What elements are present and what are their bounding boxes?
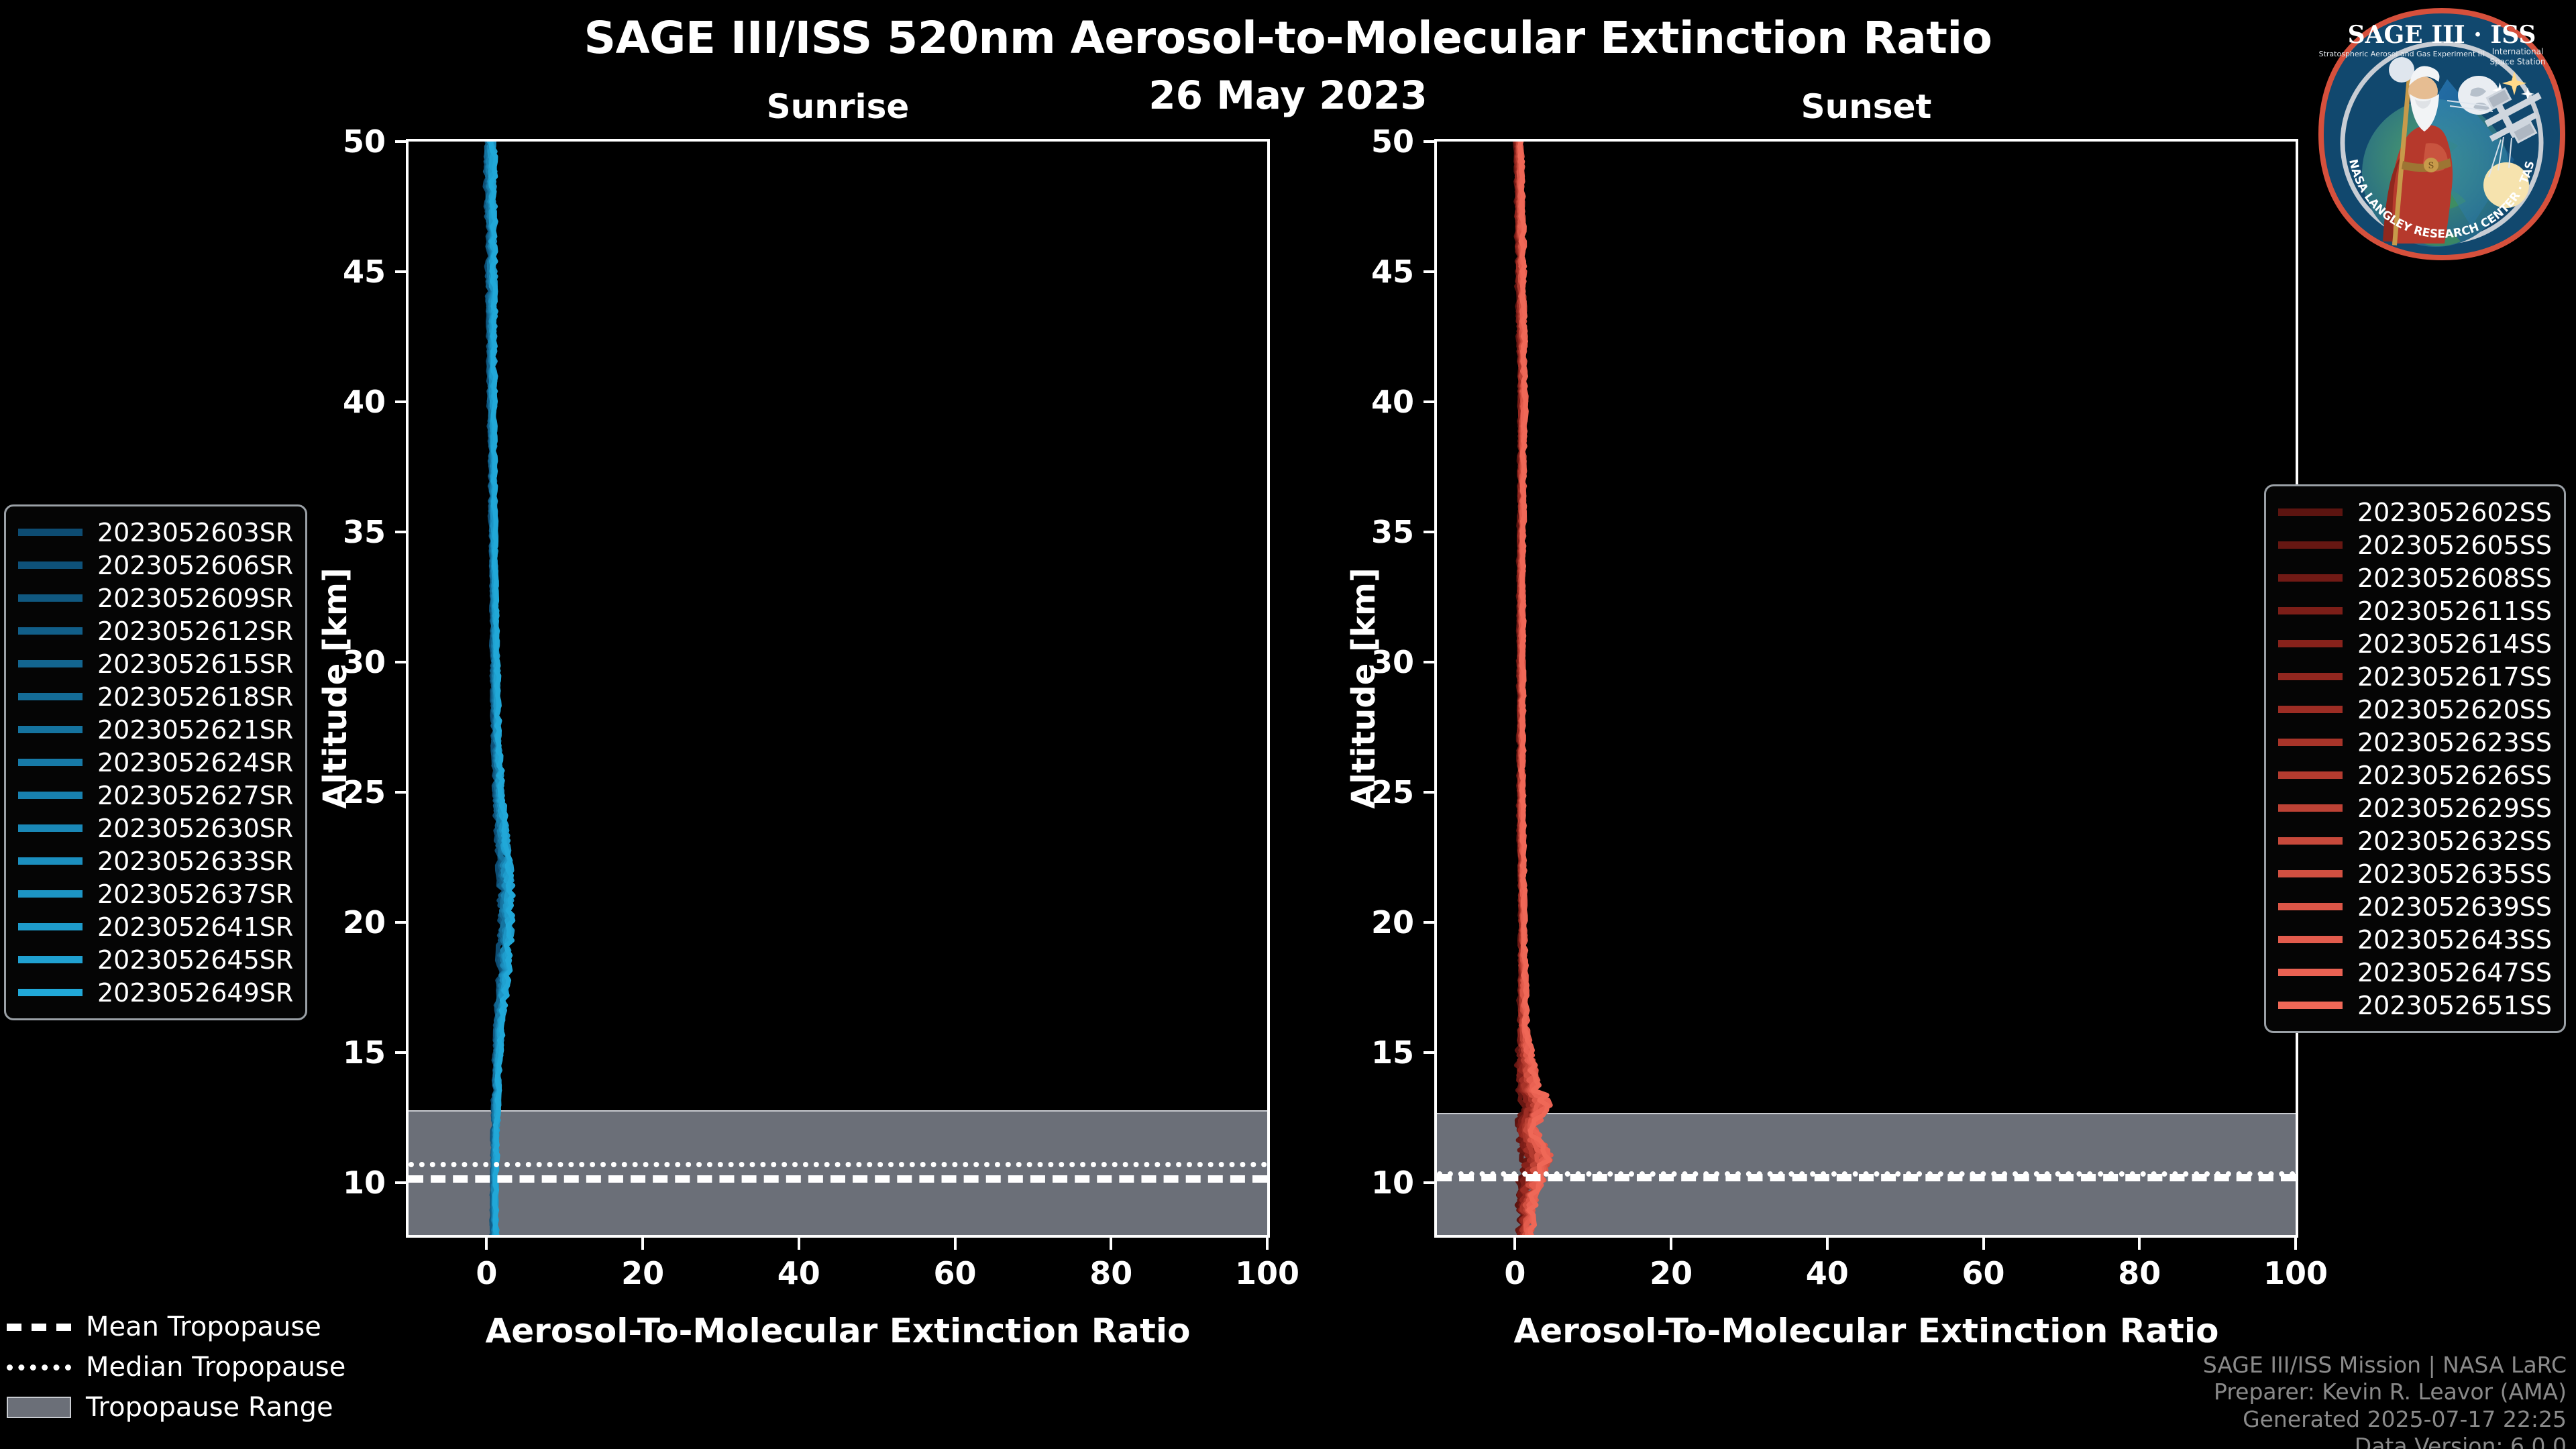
x-tick-mark — [1110, 1238, 1112, 1250]
legend-line-swatch — [2278, 706, 2343, 713]
legend-item-label: 2023052615SR — [97, 651, 293, 677]
legend-sunset-item[interactable]: 2023052639SS — [2278, 890, 2552, 923]
legend-line-swatch — [18, 792, 83, 799]
legend-item-label: Median Tropopause — [86, 1354, 345, 1381]
legend-sunset-item[interactable]: 2023052605SS — [2278, 529, 2552, 561]
legend-item-label: 2023052633SR — [97, 849, 293, 874]
legend-item-label: 2023052608SS — [2357, 566, 2552, 591]
legend-line-swatch — [18, 594, 83, 602]
legend-sunrise-item[interactable]: 2023052612SR — [18, 614, 293, 647]
legend-sunrise-item[interactable]: 2023052606SR — [18, 549, 293, 582]
legend-item-label: 2023052647SS — [2357, 960, 2552, 985]
y-tick-mark — [1424, 140, 1434, 143]
legend-item-label: 2023052606SR — [97, 553, 293, 578]
legend-line-swatch — [18, 890, 83, 898]
median-tropopause-line — [409, 1162, 1267, 1167]
legend-item-label: 2023052651SS — [2357, 993, 2552, 1018]
legend-sunset-item[interactable]: 2023052635SS — [2278, 857, 2552, 890]
legend-line-swatch — [2278, 508, 2343, 516]
legend-sunset-item[interactable]: 2023052651SS — [2278, 989, 2552, 1022]
x-tick-label: 20 — [621, 1255, 664, 1291]
legend-line-swatch — [2278, 739, 2343, 746]
legend-item-label: 2023052645SR — [97, 947, 293, 973]
legend-line-swatch — [2278, 936, 2343, 943]
plot-area-sunset[interactable] — [1434, 139, 2298, 1238]
y-axis-label-sunrise: Altitude [km] — [317, 568, 354, 809]
legend-sunrise-item[interactable]: 2023052627SR — [18, 779, 293, 812]
legend-line-swatch — [2278, 640, 2343, 647]
sage-iii-iss-logo: S SAGE III · ISS Stratospheric Aerosol a… — [2313, 5, 2571, 263]
x-tick-mark — [485, 1238, 488, 1250]
legend-item-label: 2023052632SS — [2357, 828, 2552, 854]
x-tick-label: 60 — [934, 1255, 977, 1291]
svg-text:S: S — [2428, 161, 2434, 171]
x-tick-mark — [2294, 1238, 2297, 1250]
legend-item-label: Tropopause Range — [86, 1394, 333, 1421]
legend-line-swatch — [2278, 804, 2343, 812]
legend-line-swatch — [2278, 574, 2343, 582]
mean-tropopause-line — [1437, 1174, 2296, 1181]
legend-line-swatch — [18, 824, 83, 832]
legend-item-label: 2023052637SR — [97, 881, 293, 907]
legend-sunrise-item[interactable]: 2023052637SR — [18, 877, 293, 910]
legend-item-label: 2023052609SR — [97, 586, 293, 611]
panel-title-sunset: Sunset — [1434, 87, 2298, 126]
legend-line-swatch — [18, 956, 83, 963]
y-tick-mark — [395, 1181, 406, 1184]
legend-line-swatch — [18, 529, 83, 536]
legend-line-swatch — [18, 561, 83, 569]
legend-item-label: 2023052629SS — [2357, 796, 2552, 821]
x-tick-label: 100 — [1235, 1255, 1299, 1291]
legend-item-label: Mean Tropopause — [86, 1313, 321, 1340]
y-tick-mark — [1424, 921, 1434, 924]
y-tick-mark — [1424, 661, 1434, 663]
y-tick-mark — [1424, 1181, 1434, 1184]
legend-sunset-item[interactable]: 2023052614SS — [2278, 627, 2552, 660]
logo-title: SAGE III · ISS — [2348, 21, 2536, 49]
x-tick-label: 40 — [777, 1255, 820, 1291]
y-tick-label: 40 — [1340, 384, 1414, 420]
legend-item-label: 2023052620SS — [2357, 697, 2552, 722]
y-axis-label-sunset: Altitude [km] — [1345, 568, 1383, 809]
y-tick-mark — [395, 661, 406, 663]
credits-line-version: Data Version: 6.0.0 — [2203, 1433, 2567, 1449]
x-tick-mark — [1826, 1238, 1829, 1250]
legend-sunset-item[interactable]: 2023052608SS — [2278, 561, 2552, 594]
logo-svg: S SAGE III · ISS Stratospheric Aerosol a… — [2313, 5, 2571, 263]
legend-sunrise[interactable]: 2023052603SR2023052606SR2023052609SR2023… — [4, 504, 307, 1020]
legend-line-swatch — [18, 759, 83, 766]
legend-tropopause-item[interactable]: Mean Tropopause — [7, 1307, 345, 1347]
y-tick-label: 30 — [312, 644, 386, 680]
y-tick-label: 35 — [312, 514, 386, 550]
legend-sunrise-item[interactable]: 2023052621SR — [18, 713, 293, 746]
y-tick-label: 20 — [1340, 904, 1414, 941]
legend-item-label: 2023052617SS — [2357, 664, 2552, 690]
legend-sunset-item[interactable]: 2023052617SS — [2278, 660, 2552, 693]
y-tick-label: 35 — [1340, 514, 1414, 550]
legend-sunrise-item[interactable]: 2023052609SR — [18, 582, 293, 614]
y-tick-label: 45 — [312, 254, 386, 290]
logo-subtitle-left: Stratospheric Aerosol and Gas Experiment… — [2319, 50, 2485, 58]
panel-title-sunrise: Sunrise — [406, 87, 1270, 126]
y-tick-label: 40 — [312, 384, 386, 420]
x-tick-label: 20 — [1650, 1255, 1693, 1291]
logo-subtitle-right-2: Space Station — [2489, 57, 2545, 66]
x-tick-mark — [1982, 1238, 1985, 1250]
legend-sunrise-item[interactable]: 2023052633SR — [18, 845, 293, 877]
legend-line-swatch — [18, 627, 83, 635]
y-tick-label: 20 — [312, 904, 386, 941]
y-tick-mark — [395, 921, 406, 924]
x-tick-mark — [954, 1238, 957, 1250]
legend-sunrise-item[interactable]: 2023052615SR — [18, 647, 293, 680]
y-tick-mark — [1424, 1051, 1434, 1054]
x-tick-mark — [641, 1238, 644, 1250]
x-tick-mark — [798, 1238, 800, 1250]
legend-item-label: 2023052621SR — [97, 717, 293, 743]
legend-item-label: 2023052635SS — [2357, 861, 2552, 887]
legend-dashed-swatch — [7, 1324, 71, 1331]
legend-sunrise-item[interactable]: 2023052641SR — [18, 910, 293, 943]
legend-sunset-item[interactable]: 2023052647SS — [2278, 956, 2552, 989]
legend-item-label: 2023052611SS — [2357, 598, 2552, 624]
legend-item-label: 2023052627SR — [97, 783, 293, 808]
legend-sunrise-item[interactable]: 2023052603SR — [18, 516, 293, 549]
x-tick-label: 0 — [1504, 1255, 1525, 1291]
legend-line-swatch — [2278, 969, 2343, 976]
mean-tropopause-line — [409, 1175, 1267, 1183]
legend-sunrise-item[interactable]: 2023052645SR — [18, 943, 293, 976]
y-tick-mark — [395, 140, 406, 143]
legend-sunset-item[interactable]: 2023052629SS — [2278, 792, 2552, 824]
y-tick-label: 30 — [1340, 644, 1414, 680]
y-tick-label: 25 — [1340, 774, 1414, 810]
legend-sunset-item[interactable]: 2023052632SS — [2278, 824, 2552, 857]
legend-sunset-item[interactable]: 2023052626SS — [2278, 759, 2552, 792]
x-tick-label: 0 — [476, 1255, 497, 1291]
legend-line-swatch — [18, 989, 83, 996]
x-tick-label: 80 — [1089, 1255, 1132, 1291]
x-tick-mark — [1670, 1238, 1672, 1250]
plot-area-sunrise[interactable] — [406, 139, 1270, 1238]
logo-subtitle-right-1: International — [2492, 47, 2544, 56]
y-tick-mark — [1424, 531, 1434, 533]
legend-line-swatch — [2278, 541, 2343, 549]
legend-line-swatch — [18, 857, 83, 865]
legend-item-label: 2023052612SR — [97, 619, 293, 644]
legend-sunset-item[interactable]: 2023052623SS — [2278, 726, 2552, 759]
x-axis-label-sunrise: Aerosol-To-Molecular Extinction Ratio — [406, 1311, 1270, 1350]
x-tick-label: 40 — [1806, 1255, 1849, 1291]
legend-line-swatch — [2278, 607, 2343, 614]
y-tick-label: 50 — [1340, 123, 1414, 160]
legend-sunset-item[interactable]: 2023052620SS — [2278, 693, 2552, 726]
legend-item-label: 2023052641SR — [97, 914, 293, 940]
x-tick-label: 80 — [2118, 1255, 2161, 1291]
legend-tropopause[interactable]: Mean TropopauseMedian TropopauseTropopau… — [7, 1307, 345, 1428]
y-tick-label: 25 — [312, 774, 386, 810]
legend-item-label: 2023052602SS — [2357, 500, 2552, 525]
legend-sunset[interactable]: 2023052602SS2023052605SS2023052608SS2023… — [2264, 484, 2566, 1033]
x-tick-mark — [2138, 1238, 2141, 1250]
legend-line-swatch — [2278, 837, 2343, 845]
legend-item-label: 2023052624SR — [97, 750, 293, 775]
credits-line-generated: Generated 2025-07-17 22:25 — [2203, 1406, 2567, 1433]
legend-sunrise-item[interactable]: 2023052630SR — [18, 812, 293, 845]
legend-item-label: 2023052614SS — [2357, 631, 2552, 657]
y-tick-mark — [395, 1051, 406, 1054]
legend-line-swatch — [18, 693, 83, 700]
x-tick-label: 100 — [2263, 1255, 2328, 1291]
legend-item-label: 2023052623SS — [2357, 730, 2552, 755]
figure-root: SAGE III/ISS 520nm Aerosol-to-Molecular … — [0, 0, 2576, 1449]
legend-tropopause-item[interactable]: Tropopause Range — [7, 1387, 345, 1428]
y-tick-mark — [1424, 400, 1434, 403]
y-tick-label: 15 — [312, 1034, 386, 1071]
legend-sunrise-item[interactable]: 2023052618SR — [18, 680, 293, 713]
y-tick-mark — [1424, 270, 1434, 273]
legend-item-label: 2023052605SS — [2357, 533, 2552, 558]
legend-item-label: 2023052643SS — [2357, 927, 2552, 953]
legend-sunset-item[interactable]: 2023052611SS — [2278, 594, 2552, 627]
legend-line-swatch — [2278, 1002, 2343, 1009]
y-tick-label: 10 — [1340, 1165, 1414, 1201]
y-tick-label: 15 — [1340, 1034, 1414, 1071]
legend-line-swatch — [2278, 870, 2343, 877]
credits-block: SAGE III/ISS Mission | NASA LaRC Prepare… — [2203, 1352, 2567, 1449]
credits-line-mission: SAGE III/ISS Mission | NASA LaRC — [2203, 1352, 2567, 1379]
y-tick-label: 45 — [1340, 254, 1414, 290]
legend-line-swatch — [2278, 673, 2343, 680]
legend-item-label: 2023052626SS — [2357, 763, 2552, 788]
profile-lines-sunset — [1437, 142, 2296, 1235]
legend-item-label: 2023052603SR — [97, 520, 293, 545]
legend-line-swatch — [2278, 903, 2343, 910]
x-axis-label-sunset: Aerosol-To-Molecular Extinction Ratio — [1434, 1311, 2298, 1350]
legend-range-patch — [7, 1397, 71, 1418]
legend-item-label: 2023052618SR — [97, 684, 293, 710]
credits-line-preparer: Preparer: Kevin R. Leavor (AMA) — [2203, 1379, 2567, 1405]
legend-tropopause-item[interactable]: Median Tropopause — [7, 1347, 345, 1387]
legend-line-swatch — [18, 923, 83, 930]
y-tick-mark — [395, 531, 406, 533]
figure-title: SAGE III/ISS 520nm Aerosol-to-Molecular … — [0, 12, 2576, 64]
y-tick-mark — [1424, 791, 1434, 794]
x-tick-mark — [1266, 1238, 1269, 1250]
y-tick-mark — [395, 400, 406, 403]
legend-line-swatch — [2278, 771, 2343, 779]
legend-line-swatch — [18, 726, 83, 733]
legend-dotted-swatch — [7, 1364, 71, 1371]
y-tick-label: 10 — [312, 1165, 386, 1201]
legend-line-swatch — [18, 660, 83, 667]
legend-sunset-item[interactable]: 2023052602SS — [2278, 496, 2552, 529]
x-tick-label: 60 — [1962, 1255, 2005, 1291]
legend-sunrise-item[interactable]: 2023052649SR — [18, 976, 293, 1009]
y-tick-mark — [395, 791, 406, 794]
legend-item-label: 2023052630SR — [97, 816, 293, 841]
y-tick-mark — [395, 270, 406, 273]
y-tick-label: 50 — [312, 123, 386, 160]
x-tick-mark — [1513, 1238, 1516, 1250]
legend-sunset-item[interactable]: 2023052643SS — [2278, 923, 2552, 956]
profile-lines-sunrise — [409, 142, 1267, 1235]
legend-item-label: 2023052649SR — [97, 980, 293, 1006]
legend-sunrise-item[interactable]: 2023052624SR — [18, 746, 293, 779]
legend-item-label: 2023052639SS — [2357, 894, 2552, 920]
